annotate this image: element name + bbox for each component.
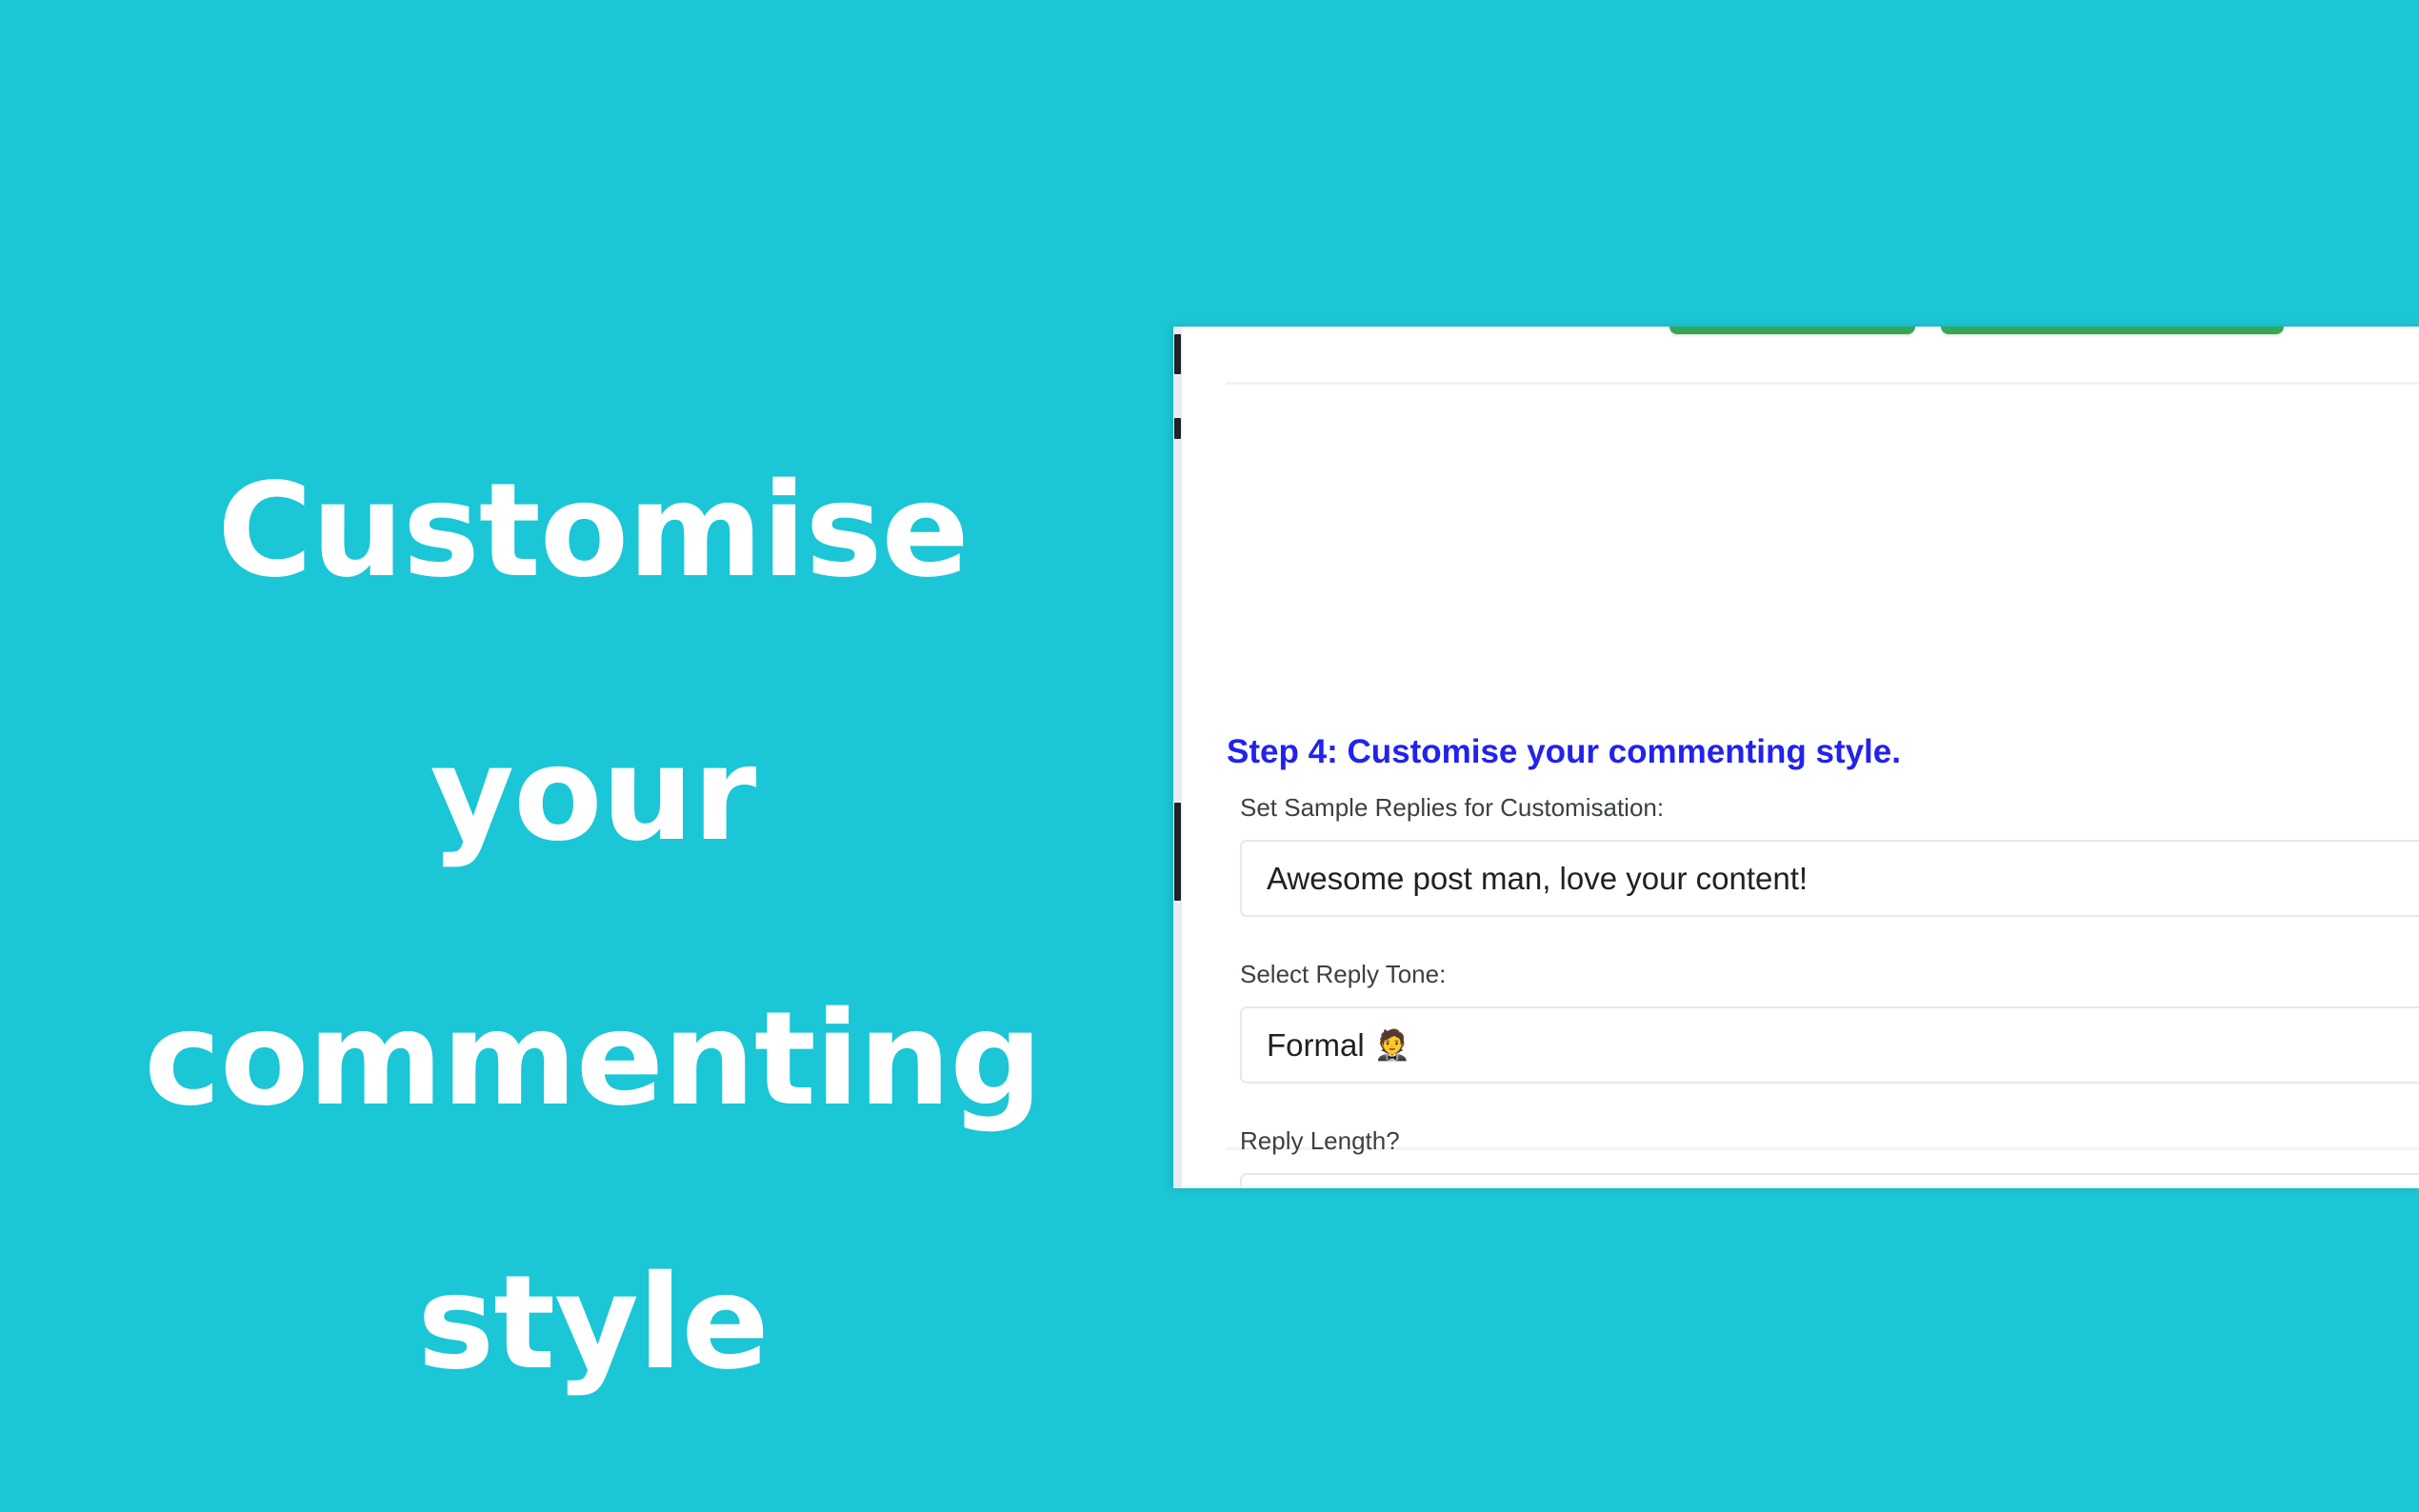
label-reply-length: Reply Length? xyxy=(1240,1126,2419,1156)
panel-edge-fragment-1 xyxy=(1174,334,1181,374)
field-group-reply-tone: Select Reply Tone: Formal 🤵 xyxy=(1240,960,2419,1084)
select-reply-tone[interactable]: Formal 🤵 xyxy=(1240,1006,2419,1084)
promo-headline-line-2: your xyxy=(0,729,1186,862)
label-sample-replies: Set Sample Replies for Customisation: xyxy=(1240,793,2419,823)
panel-edge-fragment-3 xyxy=(1174,803,1181,901)
promo-headline-line-3: commenting xyxy=(0,994,1186,1126)
primary-action-button-1[interactable] xyxy=(1669,327,1915,334)
promo-headline-line-4: style xyxy=(0,1258,1186,1390)
select-reply-length[interactable]: Short (upto 150 characters) xyxy=(1240,1173,2419,1188)
field-group-sample-replies: Set Sample Replies for Customisation: Aw… xyxy=(1240,793,2419,917)
person-in-tuxedo-icon: 🤵 xyxy=(1374,1027,1411,1063)
panel-edge-fragment-2 xyxy=(1174,418,1181,439)
promo-headline: Customise your commenting style xyxy=(0,333,1186,1512)
step-title: Step 4: Customise your commenting style. xyxy=(1173,733,2135,771)
input-sample-replies[interactable]: Awesome post man, love your content! xyxy=(1240,840,2419,917)
primary-action-button-2[interactable] xyxy=(1941,327,2284,334)
label-reply-tone: Select Reply Tone: xyxy=(1240,960,2419,989)
field-group-reply-length: Reply Length? Short (upto 150 characters… xyxy=(1240,1126,2419,1188)
value-sample-replies: Awesome post man, love your content! xyxy=(1267,861,1808,897)
app-window: Step 4: Customise your commenting style.… xyxy=(1173,327,2419,1188)
divider-top xyxy=(1226,382,2419,385)
promo-headline-line-1: Customise xyxy=(0,466,1186,598)
value-reply-tone: Formal xyxy=(1267,1027,1365,1064)
